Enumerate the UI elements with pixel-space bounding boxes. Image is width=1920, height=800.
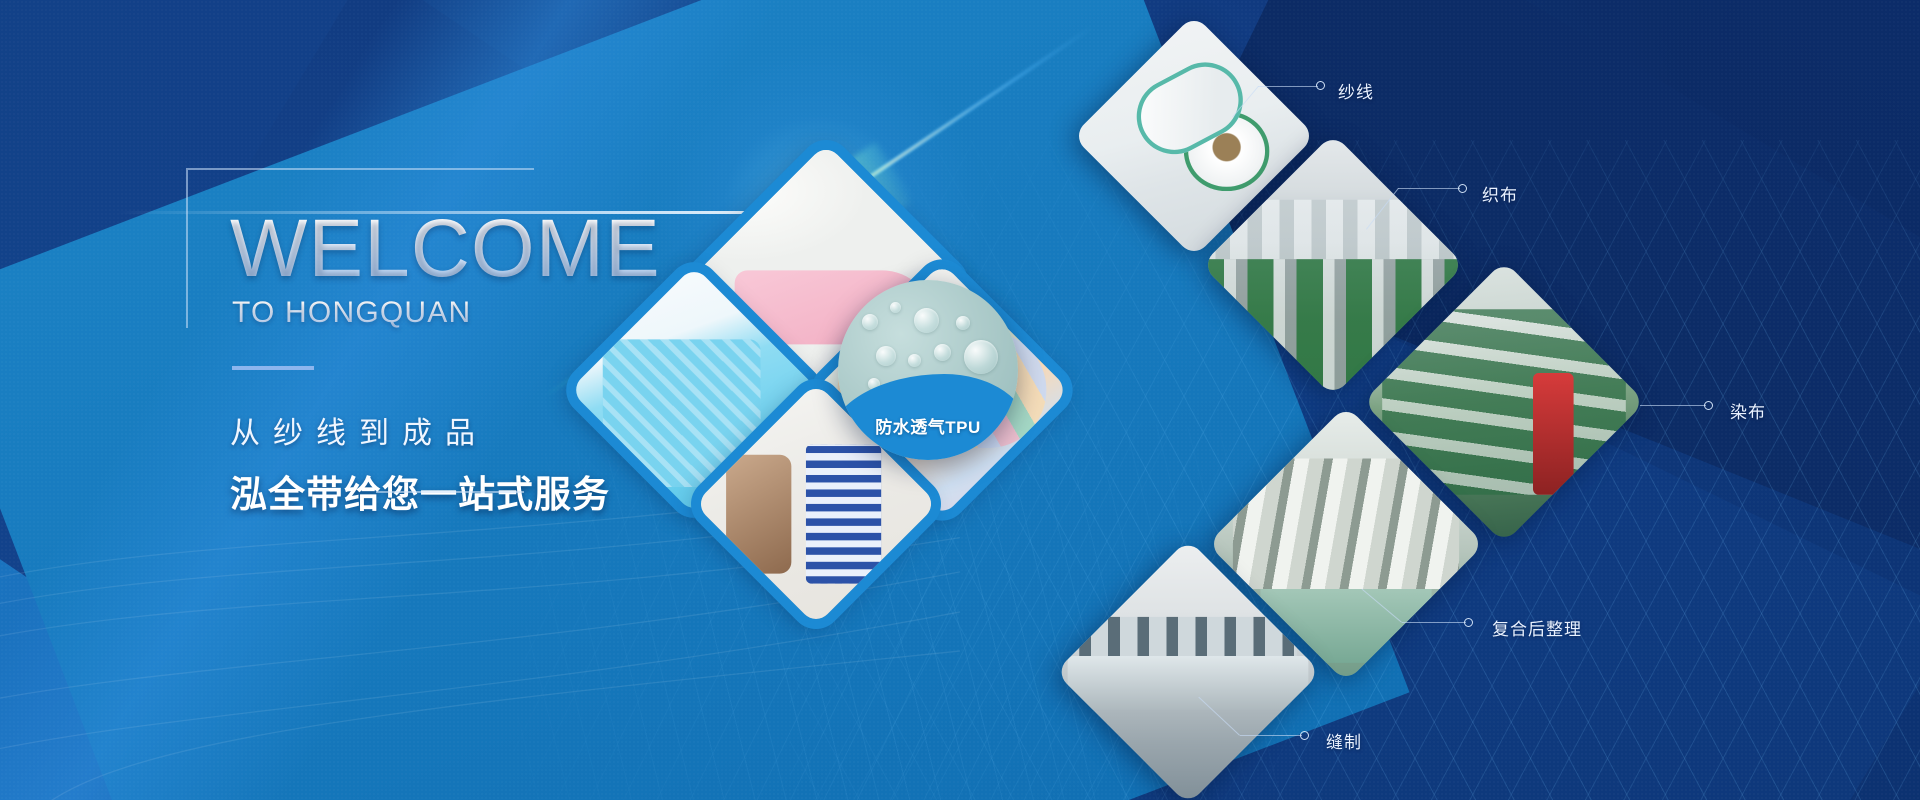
leader-dot-weaving bbox=[1458, 184, 1467, 193]
welcome-heading: WELCOME bbox=[230, 210, 661, 289]
tpu-badge-label: 防水透气TPU bbox=[838, 413, 1018, 438]
bottom-rule bbox=[376, 491, 524, 493]
tpu-feature-badge: 防水透气TPU bbox=[838, 280, 1018, 460]
tagline-text: 从纱线到成品 bbox=[230, 408, 488, 452]
callout-label-weaving: 织布 bbox=[1482, 181, 1518, 206]
leader-line-lamination bbox=[1402, 622, 1466, 623]
leader-dot-sewing bbox=[1300, 731, 1309, 740]
callout-label-lamination: 复合后整理 bbox=[1492, 615, 1582, 640]
leader-line-weaving bbox=[1398, 188, 1460, 189]
callout-label-yarn: 纱线 bbox=[1338, 78, 1374, 103]
brand-subheading: TO HONGQUAN bbox=[232, 296, 471, 330]
callout-label-dyeing: 染布 bbox=[1730, 398, 1766, 423]
leader-dot-yarn bbox=[1316, 81, 1325, 90]
callout-label-sewing: 缝制 bbox=[1326, 728, 1362, 753]
accent-rule bbox=[232, 366, 314, 370]
leader-dot-dyeing bbox=[1704, 401, 1713, 410]
hero-banner: WELCOME TO HONGQUAN 从纱线到成品 泓全带给您一站式服务 防水… bbox=[0, 0, 1920, 800]
leader-line-sewing bbox=[1240, 735, 1302, 736]
leader-line-yarn bbox=[1258, 86, 1318, 87]
leader-line-dyeing bbox=[1640, 405, 1706, 406]
leader-dot-lamination bbox=[1464, 618, 1473, 627]
